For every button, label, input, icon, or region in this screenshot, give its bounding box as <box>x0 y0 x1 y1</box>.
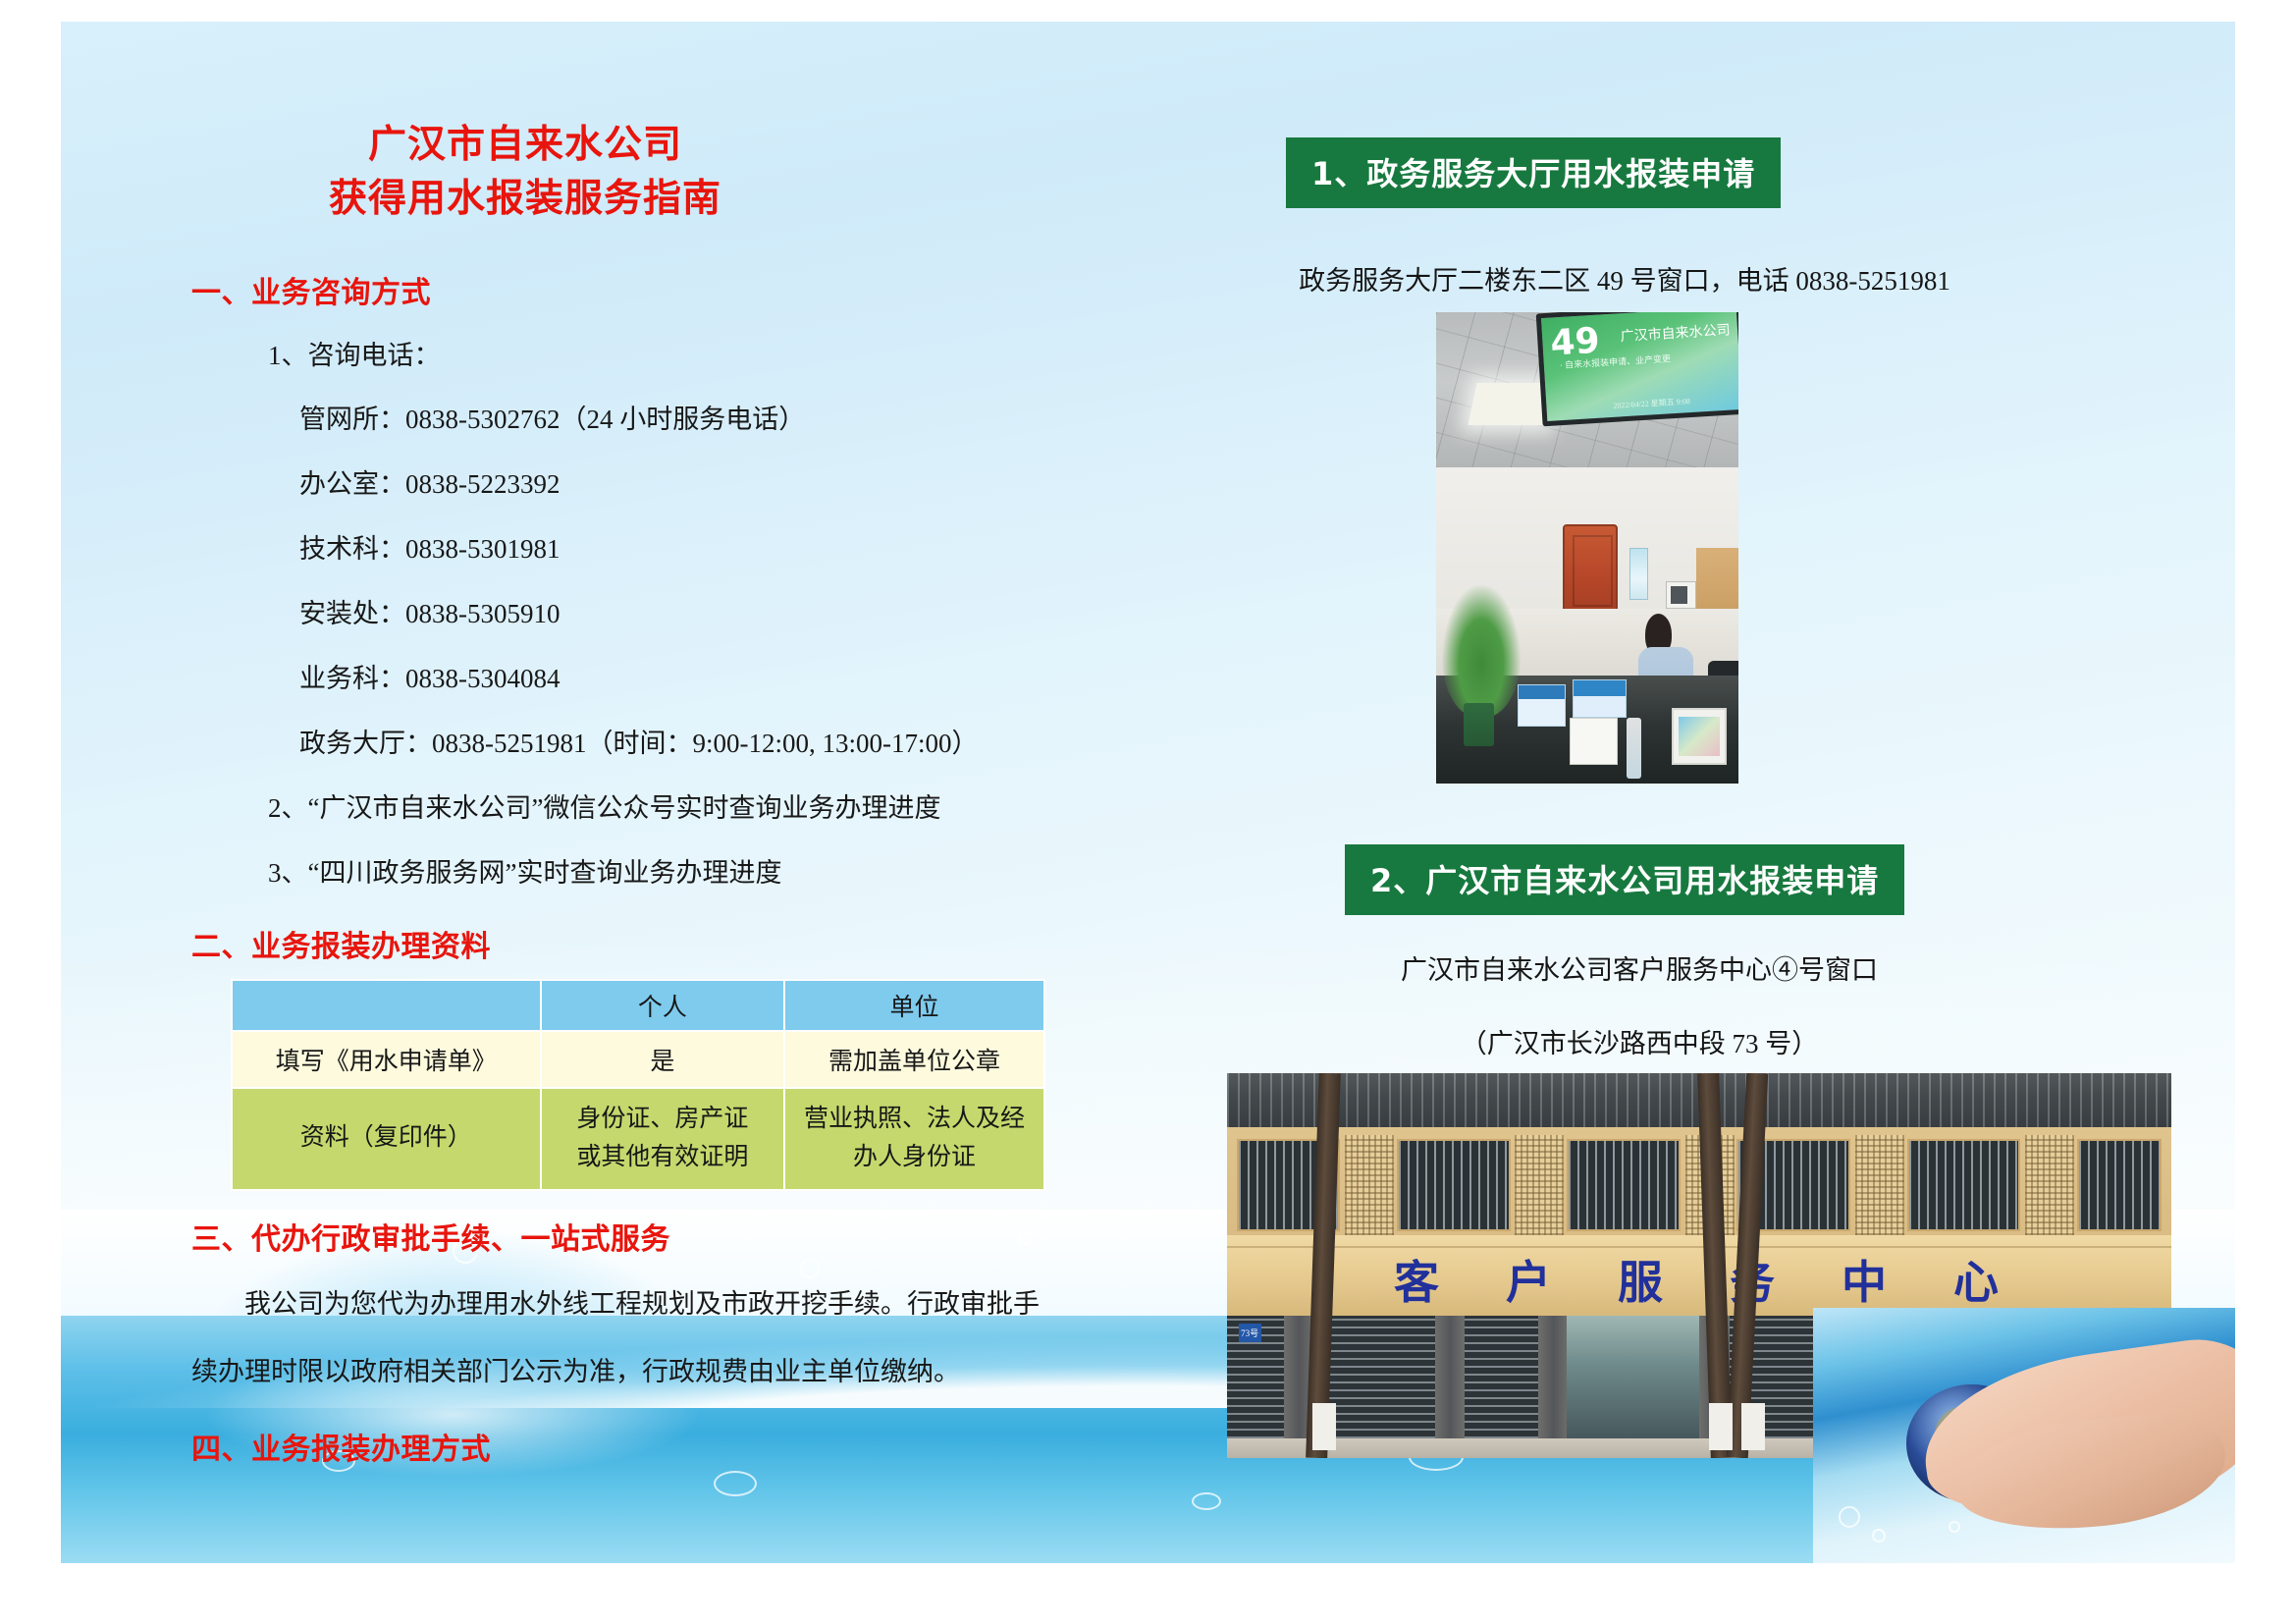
table-cell-unit-form: 需加盖单位公章 <box>784 1031 1044 1088</box>
page-title: 广汉市自来水公司 获得用水报装服务指南 <box>191 118 859 227</box>
page-title-line1: 广汉市自来水公司 <box>191 118 859 172</box>
photo-lattice-panel <box>1515 1135 1564 1235</box>
hands-holding-globe-image <box>1813 1308 2235 1563</box>
brochure-page: 广汉市自来水公司 获得用水报装服务指南 一、业务咨询方式 1、咨询电话： 管网所… <box>0 0 2296 1624</box>
phone-line-pipeline: 管网所：0838-5302762（24 小时服务电话） <box>299 406 1183 433</box>
table-header-row: 个人 单位 <box>232 980 1044 1031</box>
photo-window <box>1397 1139 1510 1231</box>
photo-lattice-panel <box>1345 1135 1394 1235</box>
photo-tree-base <box>1709 1403 1733 1450</box>
building-sign-text: 客户服务中心 <box>1227 1250 2171 1308</box>
photo-tree-base <box>1741 1403 1765 1450</box>
section-heading-3: 三、代办行政审批手续、一站式服务 <box>191 1215 1183 1258</box>
table-cell-unit-docs: 营业执照、法人及经 办人身份证 <box>784 1088 1044 1190</box>
door-plate: 73号 <box>1239 1324 1261 1343</box>
consult-phone-label: 1、咨询电话： <box>268 343 1183 369</box>
photo-microwave <box>1666 581 1696 610</box>
bubble-icon <box>1949 1521 1960 1533</box>
green-bar-heading-2: 2、广汉市自来水公司用水报装申请 <box>1345 844 1904 915</box>
bubble-icon <box>1839 1506 1860 1528</box>
photo-lattice-panel <box>1855 1135 1904 1235</box>
consult-item-3: 3、“四川政务服务网”实时查询业务办理进度 <box>268 860 1183 887</box>
bubble-icon <box>714 1471 757 1496</box>
table-row: 资料（复印件） 身份证、房产证 或其他有效证明 营业执照、法人及经 办人身份证 <box>232 1088 1044 1190</box>
unit-docs-line1: 营业执照、法人及经 <box>791 1101 1038 1139</box>
table-cell-label-form: 填写《用水申请单》 <box>232 1031 541 1088</box>
phone-line-install: 安装处：0838-5305910 <box>299 601 1183 627</box>
photo-tree-base <box>1312 1403 1336 1450</box>
queue-company-name: 广汉市自来水公司 <box>1620 319 1731 346</box>
table-cell-personal-docs: 身份证、房产证 或其他有效证明 <box>541 1088 784 1190</box>
page-title-line2: 获得用水报装服务指南 <box>191 172 859 226</box>
photo-window <box>2077 1139 2163 1231</box>
bubble-icon <box>1192 1492 1221 1510</box>
photo-queue-display: 49 广汉市自来水公司 · 自来水报装申请、业产变更 2022/04/22 星期… <box>1535 312 1738 427</box>
photo-plant <box>1442 585 1521 717</box>
table-cell-label-docs: 资料（复印件） <box>232 1088 541 1190</box>
personal-docs-line2: 或其他有效证明 <box>548 1139 777 1177</box>
personal-docs-line1: 身份证、房产证 <box>548 1101 777 1139</box>
service-hall-photo: 49 广汉市自来水公司 · 自来水报装申请、业产变更 2022/04/22 星期… <box>1436 312 1738 784</box>
photo-column <box>1435 1316 1466 1438</box>
section3-paragraph-line2: 续办理时限以政府相关部门公示为准，行政规费由业主单位缴纳。 <box>191 1359 1183 1385</box>
phone-line-tech: 技术科：0838-5301981 <box>299 536 1183 563</box>
queue-timestamp: 2022/04/22 星期五 9:08 <box>1613 396 1690 411</box>
left-content-column: 广汉市自来水公司 获得用水报装服务指南 一、业务咨询方式 1、咨询电话： 管网所… <box>191 118 1183 1468</box>
section3-paragraph-line1: 我公司为您代为办理用水外线工程规划及市政开挖手续。行政审批手 <box>244 1291 1183 1318</box>
phone-line-business: 业务科：0838-5304084 <box>299 666 1183 692</box>
table-header-unit: 单位 <box>784 980 1044 1031</box>
photo-column <box>1538 1316 1569 1438</box>
photo-water-cooler <box>1629 548 1647 600</box>
table-cell-personal-form: 是 <box>541 1031 784 1088</box>
table-header-personal: 个人 <box>541 980 784 1031</box>
customer-center-window: 广汉市自来水公司客户服务中心④号窗口 <box>1345 948 1934 987</box>
photo-plant-pot <box>1464 703 1494 745</box>
section-heading-1: 一、业务咨询方式 <box>191 268 1183 311</box>
table-row: 填写《用水申请单》 是 需加盖单位公章 <box>232 1031 1044 1088</box>
photo-standing-card-2 <box>1573 679 1627 717</box>
green-bar-heading-1: 1、政务服务大厅用水报装申请 <box>1286 137 1781 208</box>
unit-docs-line2: 办人身份证 <box>791 1139 1038 1177</box>
photo-standing-card-1 <box>1518 684 1566 727</box>
requirements-table: 个人 单位 填写《用水申请单》 是 需加盖单位公章 资料（复印件） 身份证、房产… <box>231 979 1045 1191</box>
photo-standing-card-3 <box>1570 718 1618 765</box>
photo-entrance <box>1567 1316 1699 1438</box>
right-content-column: 1、政务服务大厅用水报装申请 政务服务大厅二楼东二区 49 号窗口，电话 083… <box>1286 137 2268 298</box>
section-heading-4: 四、业务报装办理方式 <box>191 1425 1183 1468</box>
customer-center-address: （广汉市长沙路西中段 73 号） <box>1345 1022 1934 1060</box>
phone-line-govhall: 政务大厅：0838-5251981（时间：9:00-12:00, 13:00-1… <box>299 731 1183 757</box>
photo-window <box>1567 1139 1680 1231</box>
gov-hall-window-info: 政务服务大厅二楼东二区 49 号窗口，电话 0838-5251981 <box>1286 259 1963 298</box>
photo-water-bottle <box>1627 718 1641 779</box>
photo-picture-frame <box>1672 708 1726 765</box>
photo-lattice-panel <box>2025 1135 2074 1235</box>
phone-line-office: 办公室：0838-5223392 <box>299 471 1183 498</box>
consult-item-2: 2、“广汉市自来水公司”微信公众号实时查询业务办理进度 <box>268 795 1183 822</box>
section-heading-2: 二、业务报装办理资料 <box>191 922 1183 965</box>
photo-door <box>1563 524 1617 614</box>
photo-window <box>1907 1139 2020 1231</box>
table-header-blank <box>232 980 541 1031</box>
